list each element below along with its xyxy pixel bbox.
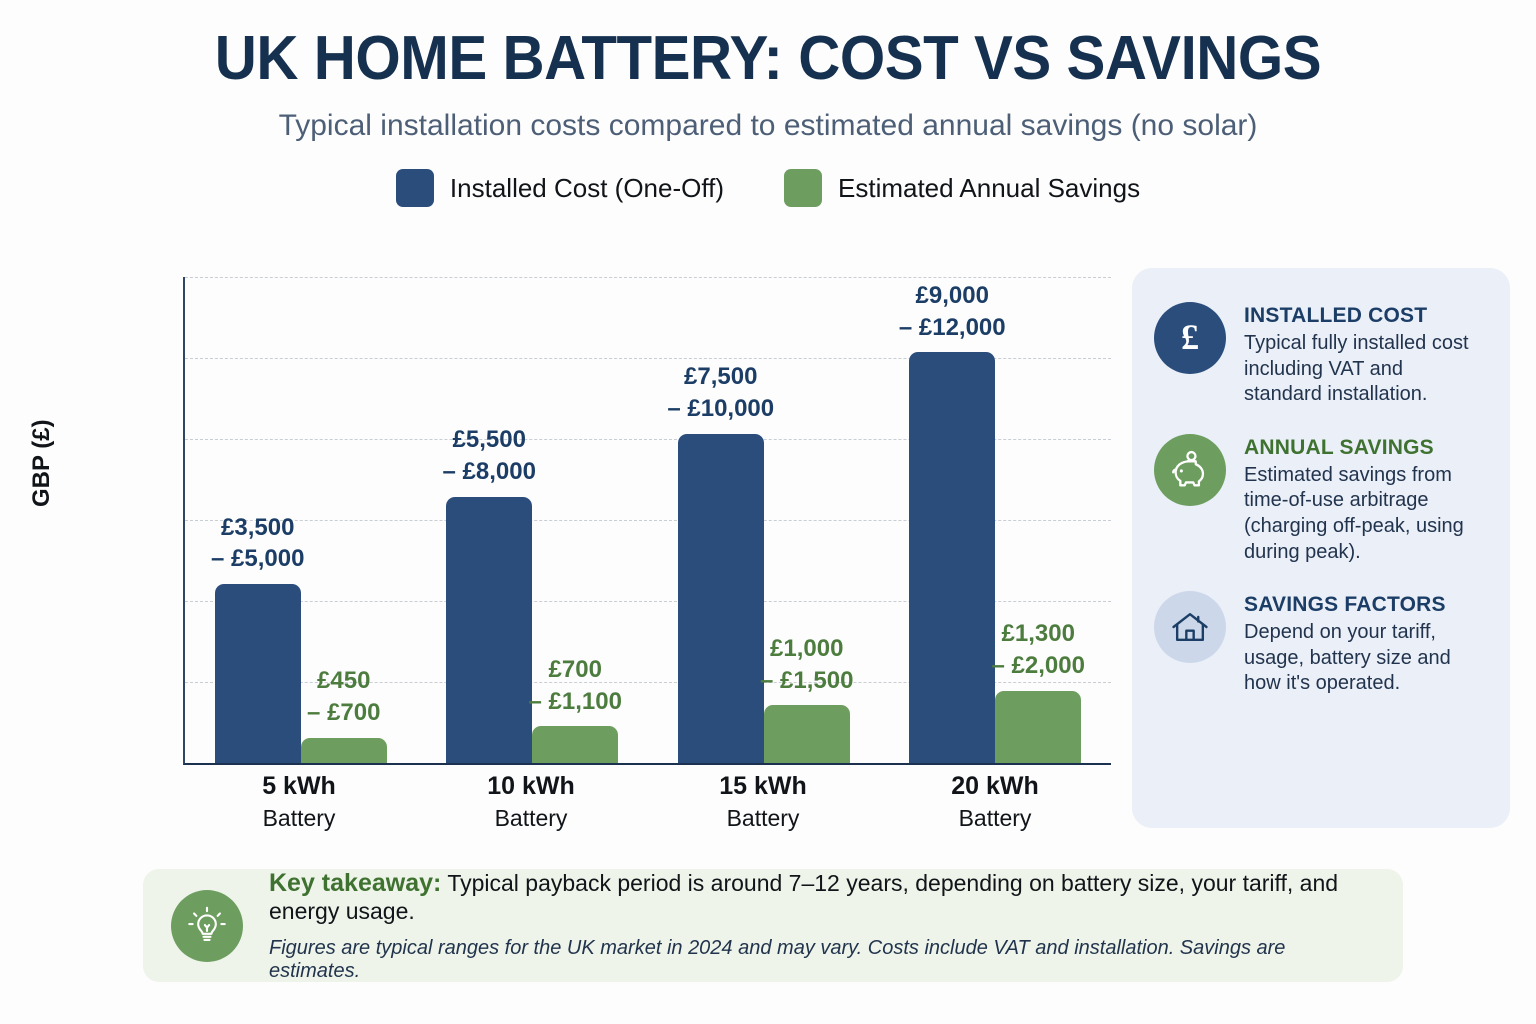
- info-card-body: Typical fully installed cost including V…: [1244, 331, 1484, 408]
- x-axis-tick-label: 15 kWh: [647, 772, 879, 801]
- x-axis-tick: 10 kWhBattery: [415, 772, 647, 832]
- pound-sign-icon: £: [1154, 302, 1226, 374]
- x-axis-tick-sublabel: Battery: [647, 805, 879, 832]
- bar-annual-savings[interactable]: £1,300– £2,000: [995, 691, 1081, 763]
- bar-installed-cost[interactable]: £3,500– £5,000: [215, 584, 301, 763]
- bar-groups: £3,500– £5,000£450– £700£5,500– £8,000£7…: [185, 277, 1111, 763]
- legend-swatch-icon-cost: [396, 169, 434, 207]
- bar-value-label: £5,500– £8,000: [443, 424, 536, 487]
- infographic-header: UK HOME BATTERY: COST VS SAVINGS Typical…: [0, 0, 1536, 143]
- legend-label-savings: Estimated Annual Savings: [838, 173, 1140, 204]
- chart-legend: Installed Cost (One-Off) Estimated Annua…: [0, 169, 1536, 207]
- x-axis-ticks: 5 kWhBattery10 kWhBattery15 kWhBattery20…: [183, 772, 1111, 832]
- svg-text:£: £: [1181, 317, 1199, 357]
- bar-installed-cost[interactable]: £9,000– £12,000: [909, 352, 995, 763]
- bar-value-label: £1,000– £1,500: [760, 633, 853, 696]
- x-axis-tick-sublabel: Battery: [879, 805, 1111, 832]
- info-card-savings-factors: SAVINGS FACTORS Depend on your tariff, u…: [1154, 591, 1484, 697]
- plot-area: £0£2,000£4,000£6,000£8,000£10,000£12,000…: [183, 277, 1111, 765]
- bar-chart: GBP (£) £0£2,000£4,000£6,000£8,000£10,00…: [0, 252, 1130, 852]
- page-subtitle: Typical installation costs compared to e…: [0, 109, 1536, 143]
- info-card-annual-savings: ANNUAL SAVINGS Estimated savings from ti…: [1154, 434, 1484, 565]
- takeaway-line: Key takeaway: Typical payback period is …: [269, 869, 1375, 925]
- info-card-title: SAVINGS FACTORS: [1244, 593, 1484, 617]
- bar-group: £9,000– £12,000£1,300– £2,000: [880, 277, 1112, 763]
- takeaway-note: Figures are typical ranges for the UK ma…: [269, 937, 1375, 983]
- bar-installed-cost[interactable]: £7,500– £10,000: [678, 434, 764, 763]
- info-card-installed-cost: £ INSTALLED COST Typical fully installed…: [1154, 302, 1484, 408]
- legend-label-cost: Installed Cost (One-Off): [450, 173, 724, 204]
- x-axis-tick: 5 kWhBattery: [183, 772, 415, 832]
- info-card-body: Estimated savings from time-of-use arbit…: [1244, 463, 1484, 565]
- bar-annual-savings[interactable]: £700– £1,100: [532, 726, 618, 763]
- legend-swatch-icon-savings: [784, 169, 822, 207]
- house-icon: [1154, 591, 1226, 663]
- info-card-title: INSTALLED COST: [1244, 304, 1484, 328]
- bar-value-label: £450– £700: [307, 665, 380, 728]
- bar-value-label: £3,500– £5,000: [211, 512, 304, 575]
- legend-item-installed-cost[interactable]: Installed Cost (One-Off): [396, 169, 724, 207]
- lightbulb-icon: [171, 890, 243, 962]
- legend-item-annual-savings[interactable]: Estimated Annual Savings: [784, 169, 1140, 207]
- x-axis-tick-label: 10 kWh: [415, 772, 647, 801]
- x-axis-tick-sublabel: Battery: [415, 805, 647, 832]
- x-axis-tick-label: 20 kWh: [879, 772, 1111, 801]
- bar-value-label: £1,300– £2,000: [992, 618, 1085, 681]
- bar-value-label: £700– £1,100: [529, 654, 622, 717]
- x-axis-tick-label: 5 kWh: [183, 772, 415, 801]
- x-axis-tick-sublabel: Battery: [183, 805, 415, 832]
- x-axis-tick: 15 kWhBattery: [647, 772, 879, 832]
- info-card-title: ANNUAL SAVINGS: [1244, 436, 1484, 460]
- key-takeaway-banner: Key takeaway: Typical payback period is …: [143, 869, 1403, 982]
- bar-group: £5,500– £8,000£700– £1,100: [417, 277, 649, 763]
- bar-value-label: £7,500– £10,000: [667, 361, 774, 424]
- bar-annual-savings[interactable]: £1,000– £1,500: [764, 705, 850, 763]
- bar-group: £7,500– £10,000£1,000– £1,500: [648, 277, 880, 763]
- piggy-bank-icon: [1154, 434, 1226, 506]
- bar-installed-cost[interactable]: £5,500– £8,000: [446, 497, 532, 763]
- y-axis-label: GBP (£): [28, 419, 56, 507]
- info-side-panel: £ INSTALLED COST Typical fully installed…: [1132, 268, 1510, 828]
- x-axis-tick: 20 kWhBattery: [879, 772, 1111, 832]
- bar-group: £3,500– £5,000£450– £700: [185, 277, 417, 763]
- page-title: UK HOME BATTERY: COST VS SAVINGS: [46, 26, 1490, 91]
- info-card-body: Depend on your tariff, usage, battery si…: [1244, 620, 1484, 697]
- takeaway-strong: Key takeaway:: [269, 869, 441, 897]
- bar-annual-savings[interactable]: £450– £700: [301, 738, 387, 763]
- bar-value-label: £9,000– £12,000: [899, 280, 1006, 343]
